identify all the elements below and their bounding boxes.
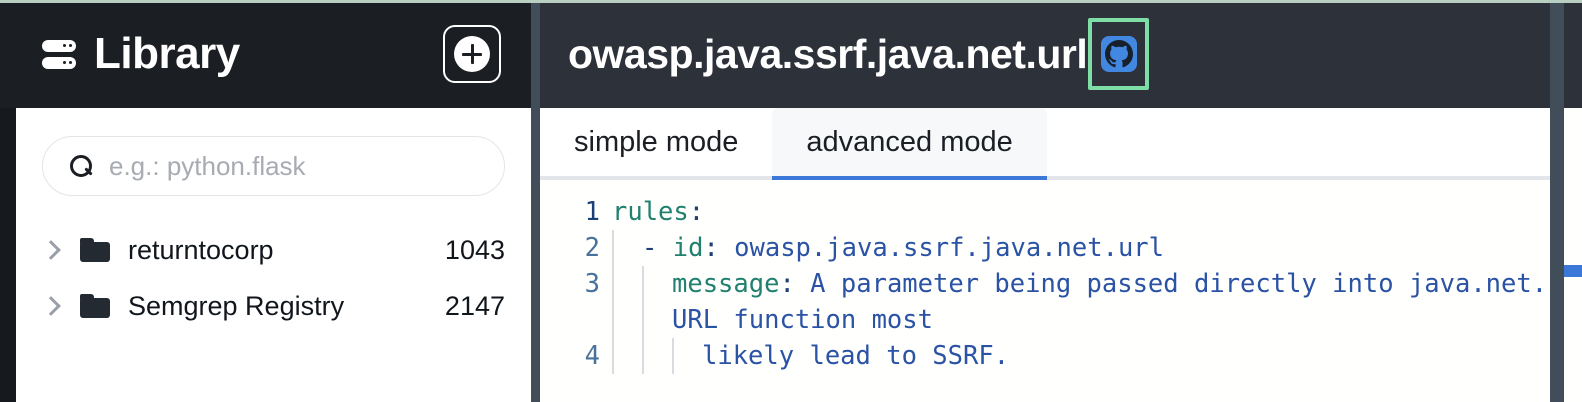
vertical-scrollbar[interactable]: [1564, 108, 1582, 402]
library-body: e.g.: python.flask returntocorp 1043 Sem…: [0, 108, 531, 402]
line-number: 1: [540, 194, 612, 230]
tab-simple-mode[interactable]: simple mode: [540, 108, 772, 176]
yaml-key: message: [672, 269, 779, 299]
app-root: Library e.g.: python.flask returntocorp …: [0, 0, 1582, 402]
top-edge-strip: [0, 0, 1582, 3]
tree-item-semgrep-registry[interactable]: Semgrep Registry 2147: [40, 278, 505, 334]
yaml-colon: :: [703, 233, 718, 263]
library-header: Library: [0, 0, 531, 108]
panel-divider[interactable]: [531, 0, 540, 402]
code-content: - id: owasp.java.ssrf.java.net.url: [642, 230, 1164, 266]
code-line: 4 likely lead to SSRF.: [540, 338, 1582, 374]
yaml-value: likely lead to SSRF.: [702, 341, 1009, 371]
yaml-value-continued: URL function most: [672, 305, 933, 335]
code-line: 1 rules:: [540, 194, 1582, 230]
yaml-value: owasp.java.ssrf.java.net.url: [719, 233, 1164, 263]
github-icon: [1101, 36, 1137, 72]
rule-editor-panel: owasp.java.ssrf.java.net.url simple mode…: [540, 0, 1582, 402]
tree-item-returntocorp[interactable]: returntocorp 1043: [40, 222, 505, 278]
line-number: 4: [540, 338, 612, 374]
chevron-right-icon[interactable]: [40, 295, 62, 317]
tab-label: advanced mode: [806, 126, 1012, 159]
add-rule-button[interactable]: [443, 25, 501, 83]
line-number: 2: [540, 230, 612, 266]
code-content: rules:: [612, 194, 704, 230]
code-content: URL function most: [672, 302, 933, 338]
yaml-colon: :: [779, 269, 794, 299]
indent-guides: [612, 302, 672, 338]
mode-tabs: simple mode advanced mode: [540, 108, 1582, 180]
search-icon: [69, 154, 93, 178]
rule-header: owasp.java.ssrf.java.net.url: [540, 0, 1582, 108]
indent-guides: [612, 266, 672, 302]
indent-guides: [612, 338, 702, 374]
plus-circle-icon: [454, 36, 490, 72]
search-input[interactable]: e.g.: python.flask: [42, 136, 505, 196]
chevron-right-icon[interactable]: [40, 239, 62, 261]
yaml-value: A parameter being passed directly into j…: [795, 269, 1547, 299]
tree-item-count: 1043: [445, 237, 505, 264]
code-line: 3 message: A parameter being passed dire…: [540, 266, 1582, 302]
folder-icon: [80, 238, 110, 262]
code-line-wrapped: URL function most: [540, 302, 1582, 338]
code-content: message: A parameter being passed direct…: [672, 266, 1547, 302]
yaml-code-editor[interactable]: 1 rules: 2 - id: owasp.java.ssrf.java.ne…: [540, 180, 1582, 402]
vertical-scrollbar-thumb[interactable]: [1564, 265, 1582, 277]
yaml-key: id: [673, 233, 704, 263]
tree-item-label: returntocorp: [128, 237, 274, 264]
indent-guides: [612, 230, 642, 266]
tree-item-label: Semgrep Registry: [128, 293, 344, 320]
library-tree: returntocorp 1043 Semgrep Registry 2147: [16, 196, 531, 334]
right-edge-rail: [1550, 0, 1564, 402]
tab-label: simple mode: [574, 126, 738, 159]
tab-advanced-mode[interactable]: advanced mode: [772, 108, 1046, 176]
github-link-highlight[interactable]: [1088, 18, 1149, 90]
yaml-colon: :: [689, 197, 704, 227]
code-line: 2 - id: owasp.java.ssrf.java.net.url: [540, 230, 1582, 266]
search-container: e.g.: python.flask: [16, 108, 531, 196]
yaml-dash: -: [642, 233, 673, 263]
yaml-key: rules: [612, 197, 689, 227]
library-sidebar: Library e.g.: python.flask returntocorp …: [0, 0, 531, 402]
library-title: Library: [94, 32, 240, 76]
tree-item-count: 2147: [445, 293, 505, 320]
line-number: 3: [540, 266, 612, 302]
search-placeholder: e.g.: python.flask: [109, 153, 306, 179]
folder-icon: [80, 294, 110, 318]
rule-title: owasp.java.ssrf.java.net.url: [568, 34, 1087, 75]
code-content: likely lead to SSRF.: [702, 338, 1009, 374]
left-nav-rail: [0, 108, 16, 402]
library-stack-icon: [42, 39, 76, 69]
